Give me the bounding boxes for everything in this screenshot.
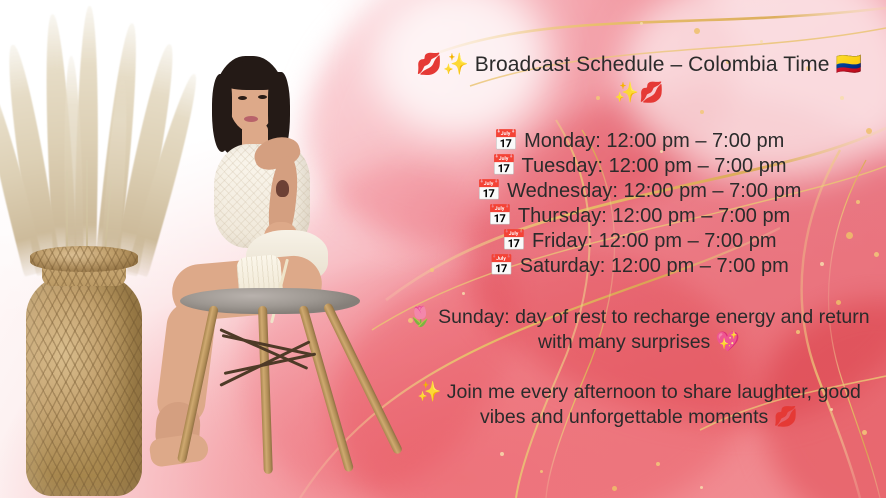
schedule-row: 📅 Wednesday: 12:00 pm – 7:00 pm (392, 179, 886, 204)
page-title: 💋✨ Broadcast Schedule – Colombia Time 🇨🇴 (392, 50, 886, 79)
hair-left (212, 74, 232, 152)
chair-leg (258, 306, 273, 474)
sparkle-icon: ✨ (443, 52, 469, 76)
schedule-row: 📅 Tuesday: 12:00 pm – 7:00 pm (392, 154, 886, 179)
schedule-list: 📅 Monday: 12:00 pm – 7:00 pm 📅 Tuesday: … (392, 129, 886, 279)
chair-leg (298, 305, 354, 473)
promo-graphic: 💋✨ Broadcast Schedule – Colombia Time 🇨🇴… (0, 0, 886, 498)
sunday-note: 🌷 Sunday: day of rest to recharge energy… (402, 305, 876, 355)
schedule-row: 📅 Thursday: 12:00 pm – 7:00 pm (392, 204, 886, 229)
title-subline: ✨💋 (392, 79, 886, 105)
page-title-text: Broadcast Schedule – Colombia Time (475, 53, 830, 76)
pampas-grass-vase (8, 0, 168, 498)
vase-lip (30, 246, 138, 272)
eye-left (238, 96, 247, 100)
schedule-row: 📅 Friday: 12:00 pm – 7:00 pm (392, 229, 886, 254)
eye-right (258, 95, 267, 99)
lips-icon: 💋 (416, 52, 442, 76)
schedule-row: 📅 Saturday: 12:00 pm – 7:00 pm (392, 254, 886, 279)
colombia-flag-icon: 🇨🇴 (835, 52, 861, 76)
lips (244, 116, 258, 122)
rattan-vase (20, 246, 148, 496)
join-note: ✨ Join me every afternoon to share laugh… (402, 380, 876, 430)
schedule-row: 📅 Monday: 12:00 pm – 7:00 pm (392, 129, 886, 154)
chair-leg (177, 305, 219, 463)
tattoo (276, 180, 289, 197)
seated-woman (150, 52, 380, 498)
chair (180, 288, 370, 498)
vase-body (26, 272, 142, 496)
schedule-text-block: 💋✨ Broadcast Schedule – Colombia Time 🇨🇴… (392, 0, 886, 498)
